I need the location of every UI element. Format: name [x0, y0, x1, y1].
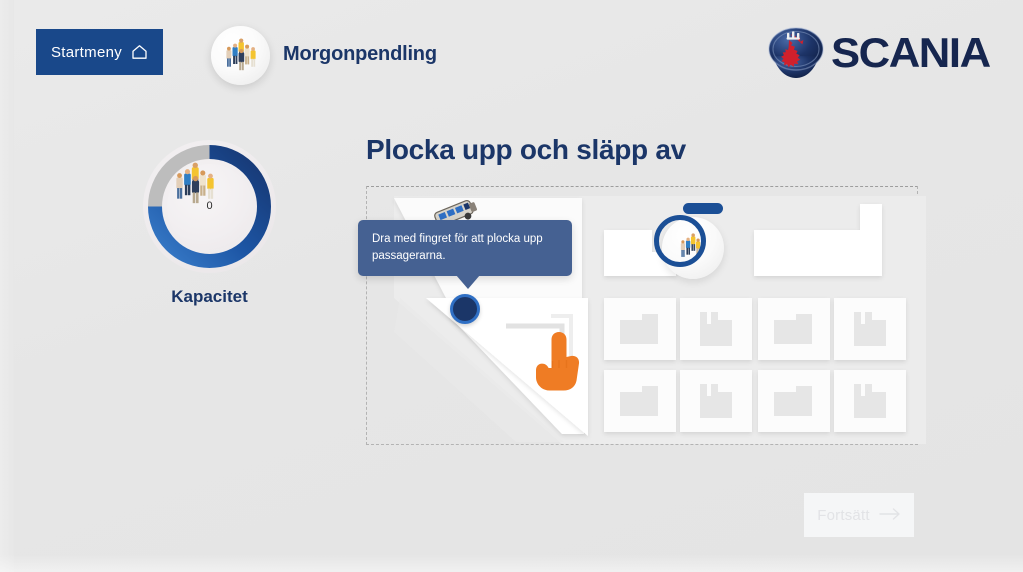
pointing-hand-icon [525, 330, 581, 392]
continue-label: Fortsätt [817, 507, 869, 524]
map-pin-icon[interactable] [450, 294, 480, 324]
instruction-tooltip: Dra med fingret för att plocka upp passa… [358, 220, 572, 276]
stop-bar-icon [683, 203, 723, 214]
left-edge-gradient [0, 0, 14, 572]
start-menu-button[interactable]: Startmeny [36, 29, 163, 75]
people-group-icon [167, 162, 223, 208]
scania-logo: SCANIA [767, 26, 987, 80]
app-root: Startmeny [0, 0, 1023, 572]
capacity-widget: 0 Kapacitet [143, 140, 276, 307]
capacity-inner: 0 [167, 164, 253, 250]
bottom-edge-gradient [0, 554, 1023, 572]
capacity-label: Kapacitet [143, 287, 276, 307]
scania-wordmark: SCANIA [831, 29, 990, 77]
capacity-gauge: 0 [143, 140, 276, 273]
page-title: Morgonpendling [283, 43, 437, 66]
people-group-icon [221, 38, 261, 74]
stop-ring-icon[interactable] [654, 215, 706, 267]
continue-button[interactable]: Fortsätt [804, 493, 914, 537]
arrow-right-icon [879, 507, 901, 524]
start-menu-label: Startmeny [51, 44, 122, 61]
passenger-stop-icon[interactable] [654, 203, 730, 279]
scania-griffin-icon [767, 26, 825, 80]
home-icon [131, 44, 148, 60]
scenario-avatar [211, 26, 270, 85]
section-title: Plocka upp och släpp av [366, 134, 686, 166]
instruction-tooltip-text: Dra med fingret för att plocka upp passa… [372, 233, 543, 262]
